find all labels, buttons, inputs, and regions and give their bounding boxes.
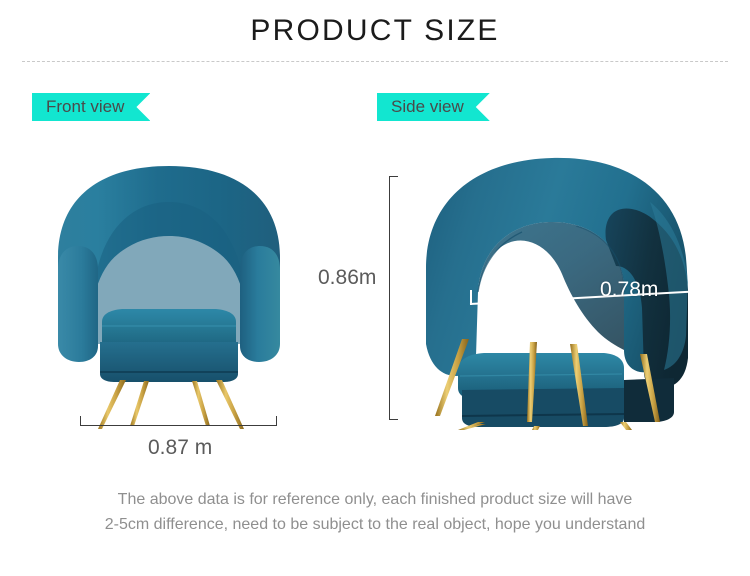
- front-width-dimension-label: 0.87 m: [148, 436, 212, 460]
- side-depth-dimension-cap-left: [470, 290, 472, 305]
- side-depth-dimension-cap-right: [691, 278, 693, 293]
- disclaimer-line-1: The above data is for reference only, ea…: [0, 487, 750, 512]
- page-title: PRODUCT SIZE: [0, 14, 750, 48]
- front-width-dimension-bracket: [80, 416, 277, 426]
- front-view-ribbon-label: Front view: [32, 93, 150, 121]
- armchair-side-legs-icon: [418, 330, 718, 430]
- side-height-dimension-bracket: [389, 176, 398, 420]
- side-height-dimension-label: 0.86m: [318, 266, 376, 290]
- disclaimer-line-2: 2-5cm difference, need to be subject to …: [0, 512, 750, 537]
- product-size-infographic: PRODUCT SIZE Front view: [0, 0, 750, 576]
- header-divider: [22, 61, 728, 62]
- armchair-front-icon: [34, 150, 304, 430]
- side-depth-dimension-label: 0.78m: [600, 278, 658, 302]
- side-view-ribbon-label: Side view: [377, 93, 490, 121]
